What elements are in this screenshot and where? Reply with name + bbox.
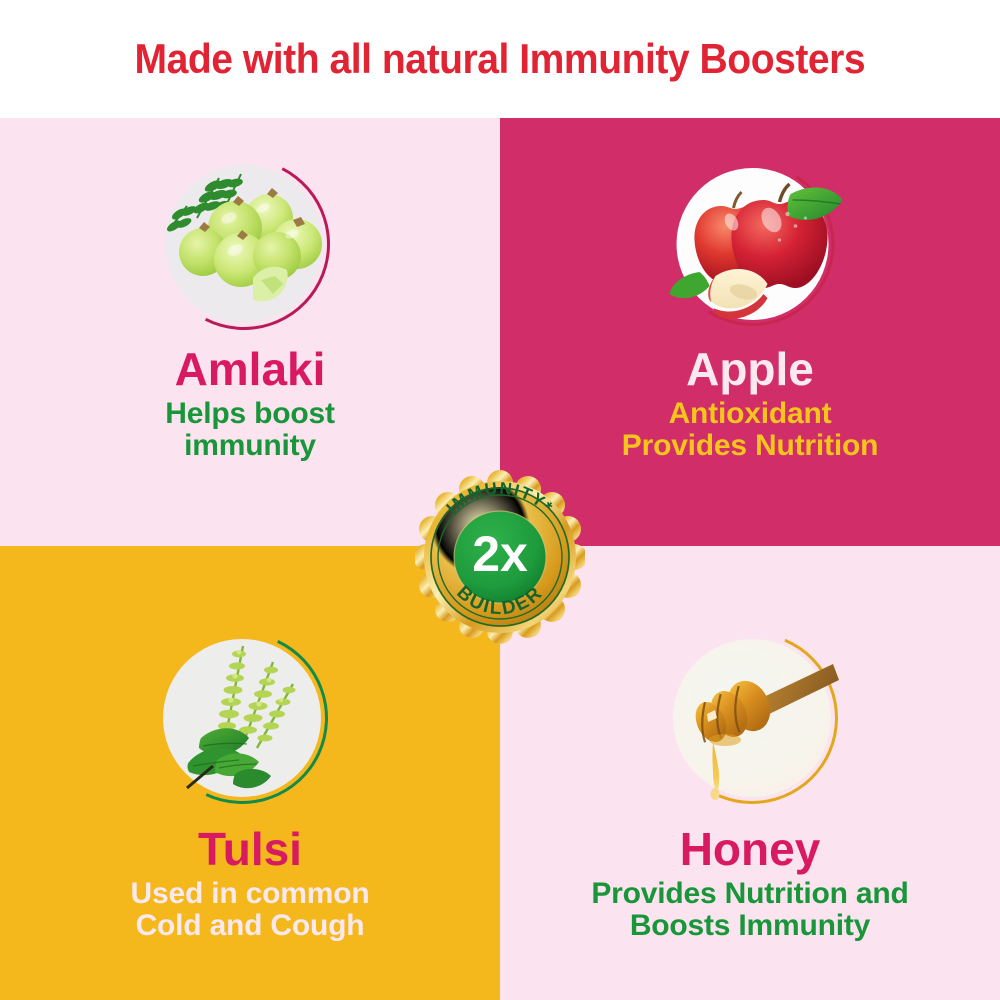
amlaki-media [149,156,339,331]
apple-description: Antioxidant Provides Nutrition [500,398,1000,463]
amlaki-text-block: Amlaki Helps boost immunity [0,346,500,463]
apple-name: Apple [500,346,1000,394]
apple-text-block: Apple Antioxidant Provides Nutrition [500,346,1000,463]
amla-gooseberries-image [149,156,339,331]
honey-media [657,628,847,808]
badge-svg: IMMUNITY* BUILDER 2x [415,465,585,645]
tulsi-text-block: Tulsi Used in common Cold and Cough [0,826,500,943]
tulsi-description: Used in common Cold and Cough [0,878,500,943]
honey-text-block: Honey Provides Nutrition and Boosts Immu… [500,826,1000,943]
immunity-boosters-infographic: Made with all natural Immunity Boosters [0,0,1000,1000]
header-band: Made with all natural Immunity Boosters [0,0,1000,118]
tulsi-name: Tulsi [0,826,500,874]
badge-center-text: 2x [472,526,528,582]
amlaki-name: Amlaki [0,346,500,394]
page-title: Made with all natural Immunity Boosters [135,35,866,83]
honey-description: Provides Nutrition and Boosts Immunity [500,878,1000,943]
immunity-builder-badge: IMMUNITY* BUILDER 2x [415,465,585,645]
tulsi-holy-basil-image [147,628,337,808]
apple-media [660,156,845,331]
tulsi-media [147,628,337,808]
honey-dipper-image [657,628,847,808]
red-apples-image [660,156,845,331]
amlaki-description: Helps boost immunity [0,398,500,463]
honey-name: Honey [500,826,1000,874]
